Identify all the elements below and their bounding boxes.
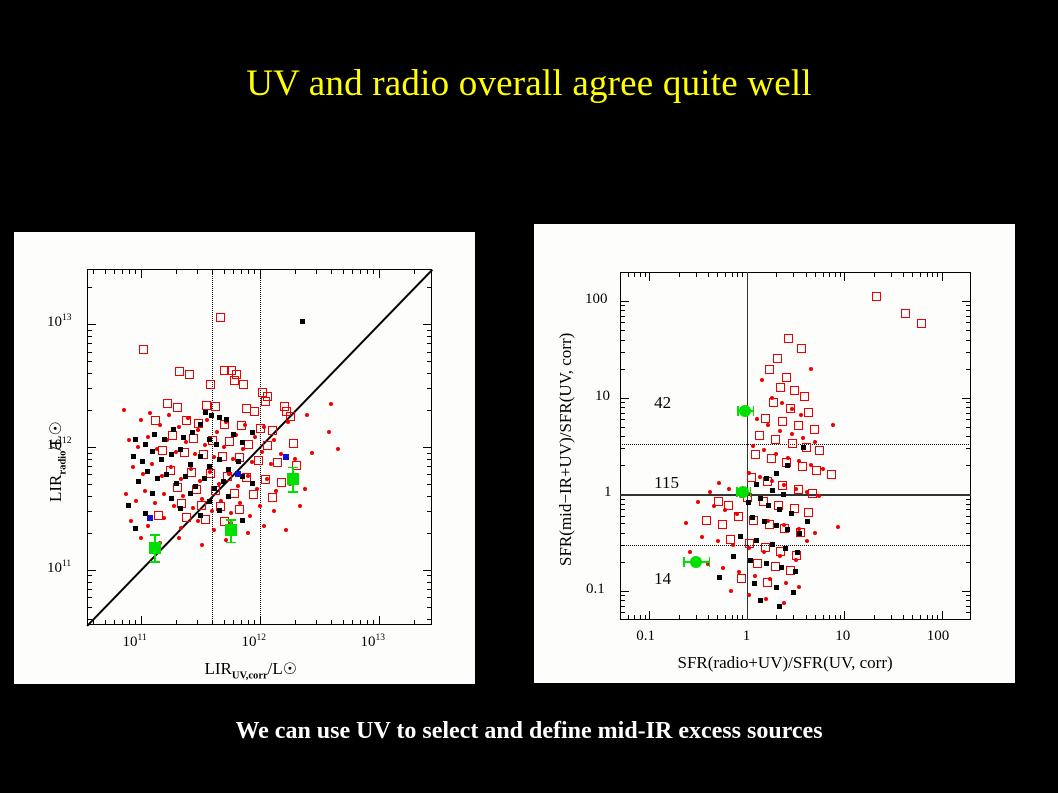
red-open-square <box>235 505 244 514</box>
left-x-axis-title: LIRUV,corr/L☉ <box>205 659 298 681</box>
x-tick <box>93 620 94 625</box>
y-tick <box>87 484 92 485</box>
y-tick-right <box>427 484 432 485</box>
x-tick-top <box>352 269 353 274</box>
x-tick <box>176 620 177 625</box>
x-tick <box>927 615 928 620</box>
black-square <box>774 471 779 476</box>
y-tick <box>87 361 92 362</box>
red-dot <box>747 593 751 597</box>
x-tick <box>135 620 136 625</box>
black-square <box>188 491 193 496</box>
y-tick <box>620 369 625 370</box>
red-open-square <box>800 392 809 401</box>
red-open-square <box>761 414 770 423</box>
red-open-square <box>173 403 182 412</box>
red-dot <box>751 444 755 448</box>
y-tick-right <box>966 322 971 323</box>
red-dot <box>158 423 162 427</box>
x-tick <box>903 615 904 620</box>
black-square <box>805 519 810 524</box>
red-dot <box>184 440 188 444</box>
red-open-square <box>168 431 177 440</box>
black-square <box>764 561 769 566</box>
x-tick-top <box>903 272 904 277</box>
black-square <box>236 459 241 464</box>
red-open-square <box>244 440 253 449</box>
x-tick-top <box>793 272 794 277</box>
y-tick <box>87 597 92 598</box>
red-dot <box>246 531 250 535</box>
green-errorbar-cap-bot <box>288 491 298 493</box>
y-tick-right <box>966 369 971 370</box>
black-square <box>162 437 167 442</box>
red-open-square <box>901 309 910 318</box>
x-tick <box>628 615 629 620</box>
x-tick <box>679 615 680 620</box>
x-tick <box>815 615 816 620</box>
vertical-unity-line <box>747 272 748 620</box>
x-tick-top <box>129 269 130 274</box>
y-tick-right <box>427 352 432 353</box>
y-tick-right <box>966 316 971 317</box>
x-tick-top <box>806 272 807 277</box>
x-tick <box>912 615 913 620</box>
red-open-square <box>773 354 782 363</box>
red-dot <box>146 524 150 528</box>
red-open-square <box>737 574 746 583</box>
x-tick-top <box>114 269 115 274</box>
x-tick <box>742 615 743 620</box>
right-x-axis-title: SFR(radio+UV)/SFR(UV, corr) <box>678 653 893 673</box>
green-errorbar-cap-bot <box>226 542 236 544</box>
y-tick <box>620 419 625 420</box>
black-square <box>774 523 779 528</box>
y-tick-right <box>427 453 432 454</box>
black-square <box>748 558 753 563</box>
x-tick-top <box>937 272 938 277</box>
y-tick-right <box>962 398 971 399</box>
right-xtick-label-4: 100 <box>927 628 950 645</box>
green-errorbar-cap-left <box>683 557 685 567</box>
x-tick-top <box>742 272 743 277</box>
red-open-square <box>718 520 727 529</box>
y-tick <box>87 589 92 590</box>
x-tick <box>367 620 368 625</box>
y-tick <box>620 499 625 500</box>
red-open-square <box>778 417 787 426</box>
black-square <box>791 590 796 595</box>
red-open-square <box>804 508 813 517</box>
x-tick <box>295 620 296 625</box>
y-tick <box>620 352 625 353</box>
green-binned-circle <box>690 556 702 568</box>
x-tick <box>129 620 130 625</box>
red-dot <box>248 514 252 518</box>
x-tick-top <box>932 272 933 277</box>
red-dot <box>813 531 817 535</box>
green-binned-square <box>149 542 161 554</box>
red-dot <box>196 428 200 432</box>
right-plot-panel: 0.1 1 10 100 0.1 1 10 100 42 115 14 SFR(… <box>534 224 1015 683</box>
black-square <box>217 415 222 420</box>
black-square <box>300 319 305 324</box>
red-open-square <box>798 462 807 471</box>
red-open-square <box>771 435 780 444</box>
red-dot <box>186 416 190 420</box>
red-dot <box>774 452 778 456</box>
right-ytick-label-3: 10 <box>595 388 610 405</box>
black-square <box>240 440 245 445</box>
left-xtick-label-1: 1011 <box>123 633 147 651</box>
black-square <box>152 432 157 437</box>
y-tick <box>87 466 92 467</box>
y-tick-right <box>966 402 971 403</box>
y-tick-right <box>962 591 971 592</box>
x-tick-top <box>241 269 242 274</box>
y-tick <box>620 516 625 517</box>
x-tick-top <box>105 269 106 274</box>
x-tick-top <box>844 272 845 281</box>
y-tick-right <box>966 419 971 420</box>
x-tick-top <box>891 272 892 277</box>
black-square <box>226 467 231 472</box>
red-open-square <box>182 513 191 522</box>
right-xtick-label-3: 10 <box>835 628 850 645</box>
x-tick-top <box>248 269 249 274</box>
x-tick-top <box>197 269 198 274</box>
red-dot <box>737 570 741 574</box>
red-dot <box>782 601 786 605</box>
black-square <box>783 546 788 551</box>
black-square <box>190 430 195 435</box>
black-square <box>159 457 164 462</box>
black-square <box>231 432 236 437</box>
red-dot <box>727 487 731 491</box>
y-tick-right <box>966 340 971 341</box>
red-open-square <box>197 501 206 510</box>
x-tick-top <box>634 272 635 277</box>
black-square <box>164 472 169 477</box>
black-square <box>250 430 255 435</box>
black-square <box>178 447 183 452</box>
page-title: UV and radio overall agree quite well <box>0 62 1058 105</box>
red-open-square <box>277 478 286 487</box>
x-tick-top <box>414 269 415 274</box>
x-tick <box>197 620 198 625</box>
red-open-square <box>872 292 881 301</box>
y-tick-right <box>427 575 432 576</box>
y-tick-right <box>427 511 432 512</box>
red-dot <box>177 425 181 429</box>
y-tick <box>620 600 625 601</box>
red-dot <box>148 411 152 415</box>
black-square <box>183 474 188 479</box>
y-tick-right <box>966 330 971 331</box>
x-tick-top <box>141 269 142 278</box>
x-tick-top <box>379 269 380 278</box>
black-square <box>150 449 155 454</box>
left-y-axis-title: LIRradio/L☉ <box>46 421 68 502</box>
x-tick <box>331 620 332 625</box>
black-square <box>203 410 208 415</box>
red-open-square <box>815 446 824 455</box>
red-dot <box>303 487 307 491</box>
y-tick <box>620 330 625 331</box>
red-open-square <box>268 493 277 502</box>
x-tick-top <box>823 272 824 277</box>
x-tick-top <box>776 272 777 277</box>
red-dot <box>139 536 143 540</box>
y-tick <box>87 511 92 512</box>
red-open-square <box>782 373 791 382</box>
x-tick-top <box>628 272 629 277</box>
x-tick-top <box>835 272 836 277</box>
y-tick-right <box>966 436 971 437</box>
y-tick-right <box>966 413 971 414</box>
slide-root: UV and radio overall agree quite well 10… <box>0 0 1058 793</box>
x-tick <box>316 620 317 625</box>
black-square <box>207 499 212 504</box>
y-tick <box>87 447 96 448</box>
black-square <box>133 437 138 442</box>
red-dot <box>124 492 128 496</box>
annotation-count-115: 115 <box>654 473 679 493</box>
black-square <box>198 454 203 459</box>
black-square <box>178 506 183 511</box>
left-ytick-label-1: 1011 <box>47 559 71 577</box>
x-tick <box>122 620 123 625</box>
y-tick <box>620 562 625 563</box>
y-tick <box>620 398 629 399</box>
x-tick-top <box>920 272 921 277</box>
red-open-square <box>185 370 194 379</box>
x-tick <box>141 616 142 625</box>
y-tick-right <box>966 595 971 596</box>
red-dot <box>222 445 226 449</box>
y-tick-right <box>427 533 432 534</box>
y-tick-right <box>427 388 432 389</box>
y-tick-right <box>966 600 971 601</box>
y-tick <box>620 504 625 505</box>
red-open-square <box>810 425 819 434</box>
x-tick <box>937 615 938 620</box>
x-tick-top <box>233 269 234 274</box>
red-dot <box>712 504 716 508</box>
red-open-square <box>797 344 806 353</box>
y-tick-right <box>427 589 432 590</box>
x-tick-top <box>176 269 177 274</box>
right-ytick-label-1: 0.1 <box>586 581 605 598</box>
black-square <box>217 457 222 462</box>
y-tick-right <box>423 570 432 571</box>
black-square <box>126 503 131 508</box>
left-xtick-label-2: 1012 <box>242 633 267 651</box>
red-open-square <box>201 515 210 524</box>
black-square <box>797 531 802 536</box>
y-tick <box>620 402 625 403</box>
x-tick-top <box>135 269 136 274</box>
x-tick <box>373 620 374 625</box>
x-tick-top <box>122 269 123 274</box>
red-open-square <box>804 408 813 417</box>
y-tick <box>620 436 625 437</box>
annotation-count-42: 42 <box>654 393 671 413</box>
red-dot <box>770 396 774 400</box>
red-dot <box>146 435 150 439</box>
green-binned-circle <box>739 405 751 417</box>
right-xtick-label-1: 0.1 <box>636 628 655 645</box>
y-tick <box>620 407 625 408</box>
red-open-square <box>917 319 926 328</box>
red-dot <box>700 535 704 539</box>
red-open-square <box>753 559 762 568</box>
red-open-square <box>755 431 764 440</box>
red-dot <box>805 539 809 543</box>
x-tick-top <box>829 272 830 277</box>
red-dot <box>162 492 166 496</box>
black-square <box>731 554 736 559</box>
x-tick-top <box>645 272 646 277</box>
red-open-square <box>175 367 184 376</box>
black-square <box>221 479 226 484</box>
right-xtick-label-2: 1 <box>743 628 751 645</box>
x-tick <box>840 615 841 620</box>
y-tick <box>620 413 625 414</box>
red-dot <box>127 438 131 442</box>
black-square <box>717 575 722 580</box>
red-dot <box>208 470 212 474</box>
black-square <box>801 445 806 450</box>
red-dot <box>139 418 143 422</box>
black-square <box>188 462 193 467</box>
black-square <box>217 508 222 513</box>
black-square <box>145 469 150 474</box>
x-tick <box>844 611 845 620</box>
red-dot <box>310 451 314 455</box>
y-tick-right <box>966 516 971 517</box>
y-tick <box>620 606 625 607</box>
red-dot <box>764 597 768 601</box>
red-open-square <box>216 313 225 322</box>
y-tick-right <box>427 582 432 583</box>
y-tick-right <box>966 562 971 563</box>
x-tick <box>737 615 738 620</box>
black-square <box>240 474 245 479</box>
red-dot <box>260 450 264 454</box>
x-tick <box>248 620 249 625</box>
black-square <box>250 481 255 486</box>
black-square <box>193 484 198 489</box>
black-square <box>770 488 775 493</box>
red-open-square <box>702 516 711 525</box>
x-tick <box>829 615 830 620</box>
red-dot <box>203 443 207 447</box>
black-square <box>133 526 138 531</box>
green-binned-square <box>287 473 299 485</box>
y-tick <box>87 330 92 331</box>
x-tick-top <box>927 272 928 277</box>
y-tick-right <box>427 410 432 411</box>
red-dot <box>747 471 751 475</box>
x-tick-top <box>295 269 296 274</box>
right-ytick-label-2: 1 <box>604 484 612 501</box>
y-tick-right <box>427 336 432 337</box>
black-square <box>738 534 743 539</box>
black-square <box>766 503 771 508</box>
black-square <box>131 454 136 459</box>
black-square <box>758 598 763 603</box>
x-tick <box>640 615 641 620</box>
black-square <box>777 507 782 512</box>
red-dot <box>735 512 739 516</box>
red-dot <box>794 558 798 562</box>
red-open-square <box>139 345 148 354</box>
red-dot <box>196 519 200 523</box>
red-dot <box>177 536 181 540</box>
black-square <box>143 442 148 447</box>
y-tick-right <box>966 523 971 524</box>
y-tick <box>620 509 625 510</box>
red-open-square <box>788 439 797 448</box>
red-open-square <box>771 562 780 571</box>
black-square <box>155 476 160 481</box>
y-tick <box>620 305 625 306</box>
black-square <box>209 413 214 418</box>
black-square <box>171 427 176 432</box>
black-square <box>754 482 759 487</box>
black-square <box>226 494 231 499</box>
vertical-dotted-line-2 <box>260 269 261 625</box>
y-tick-right <box>427 361 432 362</box>
red-dot <box>786 456 790 460</box>
x-tick-top <box>696 272 697 277</box>
green-errorbar-cap-right <box>753 406 755 416</box>
y-tick <box>620 465 625 466</box>
red-dot <box>298 504 302 508</box>
red-dot <box>262 524 266 528</box>
red-open-square <box>286 412 295 421</box>
black-square <box>202 476 207 481</box>
red-dot <box>770 479 774 483</box>
red-open-square <box>765 365 774 374</box>
red-open-square <box>230 489 239 498</box>
red-dot <box>329 402 333 406</box>
red-open-square <box>250 407 259 416</box>
y-tick-right <box>966 606 971 607</box>
red-open-square <box>812 466 821 475</box>
black-square <box>793 569 798 574</box>
y-tick <box>620 612 625 613</box>
black-square <box>136 479 141 484</box>
y-tick-right <box>427 597 432 598</box>
red-dot <box>790 407 794 411</box>
black-square <box>181 435 186 440</box>
black-square <box>785 527 790 532</box>
y-tick <box>620 448 625 449</box>
black-square <box>754 538 759 543</box>
y-tick-right <box>423 447 432 448</box>
red-dot <box>227 472 231 476</box>
x-tick-top <box>640 272 641 277</box>
x-tick-top <box>912 272 913 277</box>
y-tick <box>87 388 92 389</box>
red-open-square <box>289 439 298 448</box>
x-tick <box>649 611 650 620</box>
x-tick <box>254 620 255 625</box>
x-tick <box>360 620 361 625</box>
y-tick <box>87 582 92 583</box>
